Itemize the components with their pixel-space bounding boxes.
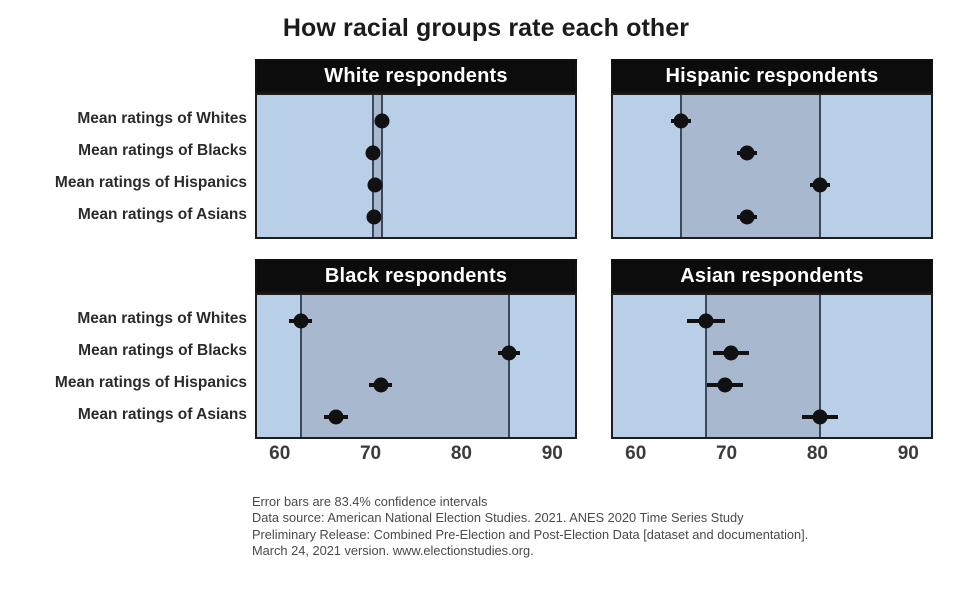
data-point [329,409,344,424]
x-tick-label: 90 [542,443,563,465]
data-point [501,345,516,360]
row-label: Mean ratings of Asians [78,206,247,224]
panel-title: Black respondents [325,266,507,286]
panel-strip: White respondents [255,59,577,93]
plot-area [255,293,577,439]
footnote-line: Preliminary Release: Combined Pre-Electi… [252,527,952,543]
row-label: Mean ratings of Hispanics [55,374,247,392]
max-reference-line [508,295,510,437]
row-label: Mean ratings of Blacks [78,342,247,360]
row-labels-bottom: Mean ratings of WhitesMean ratings of Bl… [20,293,247,439]
footnote-line: Error bars are 83.4% confidence interval… [252,494,952,510]
row-label: Mean ratings of Asians [78,406,247,424]
row-label: Mean ratings of Hispanics [55,174,247,192]
plot-area [611,293,933,439]
x-tick-label: 70 [360,443,381,465]
footnote: Error bars are 83.4% confidence interval… [252,494,952,560]
x-axis-right: 60708090 [611,443,933,471]
data-point [366,145,381,160]
panel-title: Hispanic respondents [666,66,879,86]
data-point [375,113,390,128]
x-tick-label: 90 [898,443,919,465]
data-point [813,409,828,424]
data-point [717,377,732,392]
row-labels-top: Mean ratings of WhitesMean ratings of Bl… [20,93,247,239]
data-point [740,145,755,160]
plot-area [611,93,933,239]
data-point [368,177,383,192]
footnote-line: March 24, 2021 version. www.electionstud… [252,543,952,559]
data-point [293,313,308,328]
page-title: How racial groups rate each other [0,14,972,43]
x-tick-label: 60 [269,443,290,465]
x-tick-label: 80 [807,443,828,465]
panel-strip: Black respondents [255,259,577,293]
row-label: Mean ratings of Whites [77,110,247,128]
data-point [724,345,739,360]
x-tick-label: 60 [625,443,646,465]
x-tick-label: 70 [716,443,737,465]
data-point [367,209,382,224]
data-point [813,177,828,192]
panel-black-respondents: Black respondents [255,259,577,439]
panel-strip: Hispanic respondents [611,59,933,93]
x-axis-left: 60708090 [255,443,577,471]
panel-asian-respondents: Asian respondents [611,259,933,439]
data-point [373,377,388,392]
panel-title: White respondents [324,66,507,86]
data-point [674,113,689,128]
row-label: Mean ratings of Blacks [78,142,247,160]
max-reference-line [819,95,821,237]
panel-strip: Asian respondents [611,259,933,293]
figure-root: How racial groups rate each other Mean r… [0,0,972,598]
panel-hispanic-respondents: Hispanic respondents [611,59,933,239]
row-label: Mean ratings of Whites [77,310,247,328]
panel-title: Asian respondents [680,266,863,286]
data-point [698,313,713,328]
data-point [740,209,755,224]
x-tick-label: 80 [451,443,472,465]
panel-white-respondents: White respondents [255,59,577,239]
plot-area [255,93,577,239]
footnote-line: Data source: American National Election … [252,510,952,526]
